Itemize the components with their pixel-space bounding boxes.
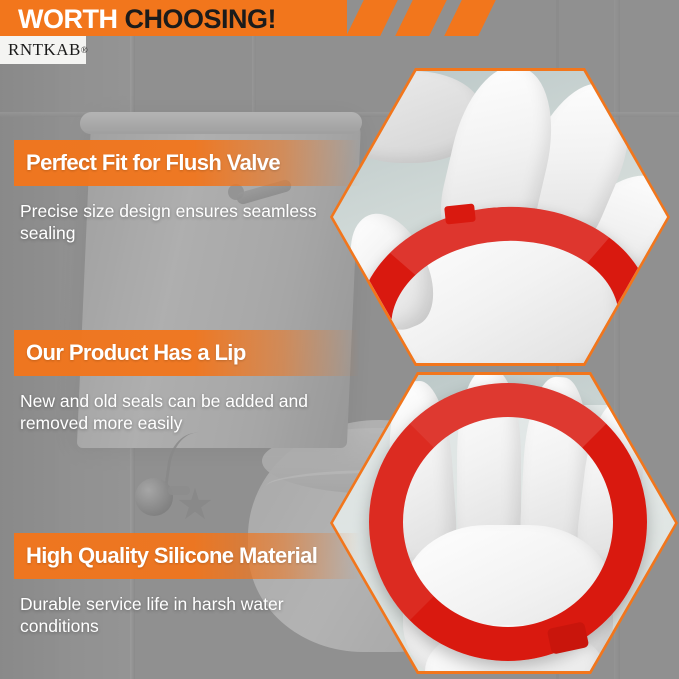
feature-block-2: Our Product Has a Lip New and old seals … — [0, 330, 360, 434]
feature-2-heading: Our Product Has a Lip — [26, 340, 246, 366]
banner-headline-word1: WORTH — [18, 4, 124, 34]
feature-2-heading-bar: Our Product Has a Lip — [14, 330, 360, 376]
feature-2-body: New and old seals can be added and remov… — [20, 390, 340, 434]
banner-headline: WORTH CHOOSING! — [18, 2, 276, 36]
feature-3-heading: High Quality Silicone Material — [26, 543, 317, 569]
brand-logo: RNTKAB® — [0, 36, 86, 64]
banner-headline-word2: CHOOSING! — [124, 4, 276, 34]
feature-3-heading-bar: High Quality Silicone Material — [14, 533, 360, 579]
seal-highlight — [369, 383, 647, 661]
feature-1-heading: Perfect Fit for Flush Valve — [26, 150, 280, 176]
registered-trademark-icon: ® — [81, 45, 88, 55]
product-feature-infographic: WORTH CHOOSING! RNTKAB® Perfect Fit for … — [0, 0, 679, 679]
feature-1-heading-bar: Perfect Fit for Flush Valve — [14, 140, 360, 186]
feature-3-body: Durable service life in harsh water cond… — [20, 593, 340, 637]
feature-block-3: High Quality Silicone Material Durable s… — [0, 533, 360, 637]
feature-1-body: Precise size design ensures seamless sea… — [20, 200, 340, 244]
feature-block-1: Perfect Fit for Flush Valve Precise size… — [0, 140, 360, 244]
seal-lip-tab — [444, 203, 476, 224]
brand-logo-text: RNTKAB — [8, 40, 81, 60]
